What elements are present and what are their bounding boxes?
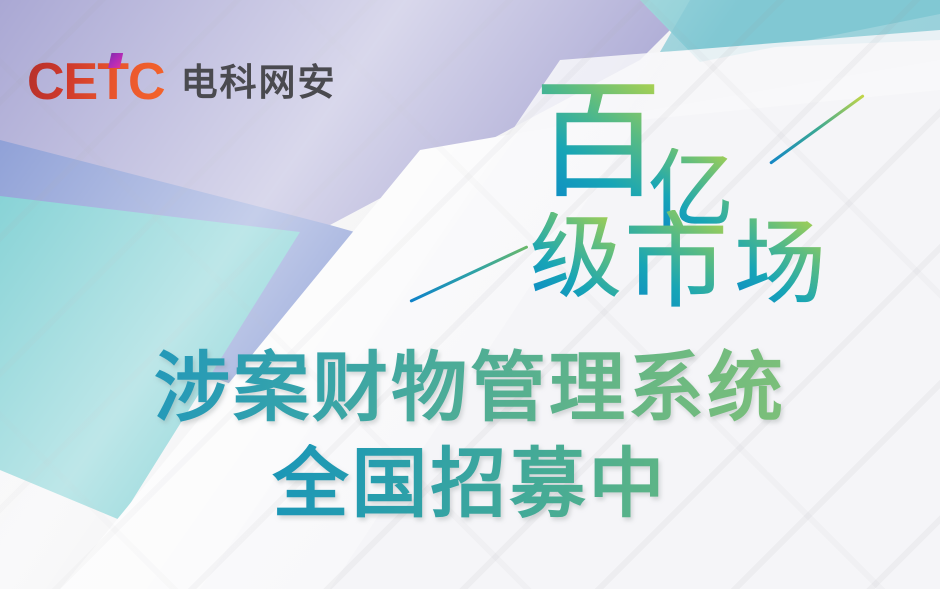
deco-char-bai: 百 xyxy=(534,78,662,206)
promotional-banner: CETC 电科网安 百 亿 级 市 场 涉案财物管理系统 全国招募中 xyxy=(0,0,940,589)
deco-char-chang: 场 xyxy=(734,218,826,310)
deco-char-shi: 市 xyxy=(624,210,728,314)
main-headline: 涉案财物管理系统 全国招募中 xyxy=(0,348,940,524)
logo-diamond-icon xyxy=(108,53,123,68)
headline-line-2: 全国招募中 xyxy=(0,444,940,524)
headline-line-1: 涉案财物管理系统 xyxy=(0,348,940,428)
logo-brand-chinese: 电科网安 xyxy=(181,64,337,101)
cetc-logo: CETC 电科网安 xyxy=(27,56,337,108)
deco-char-ji: 级 xyxy=(530,212,622,304)
decorative-headline: 百 亿 级 市 场 xyxy=(520,72,890,322)
logo-wordmark: CETC xyxy=(27,56,165,108)
